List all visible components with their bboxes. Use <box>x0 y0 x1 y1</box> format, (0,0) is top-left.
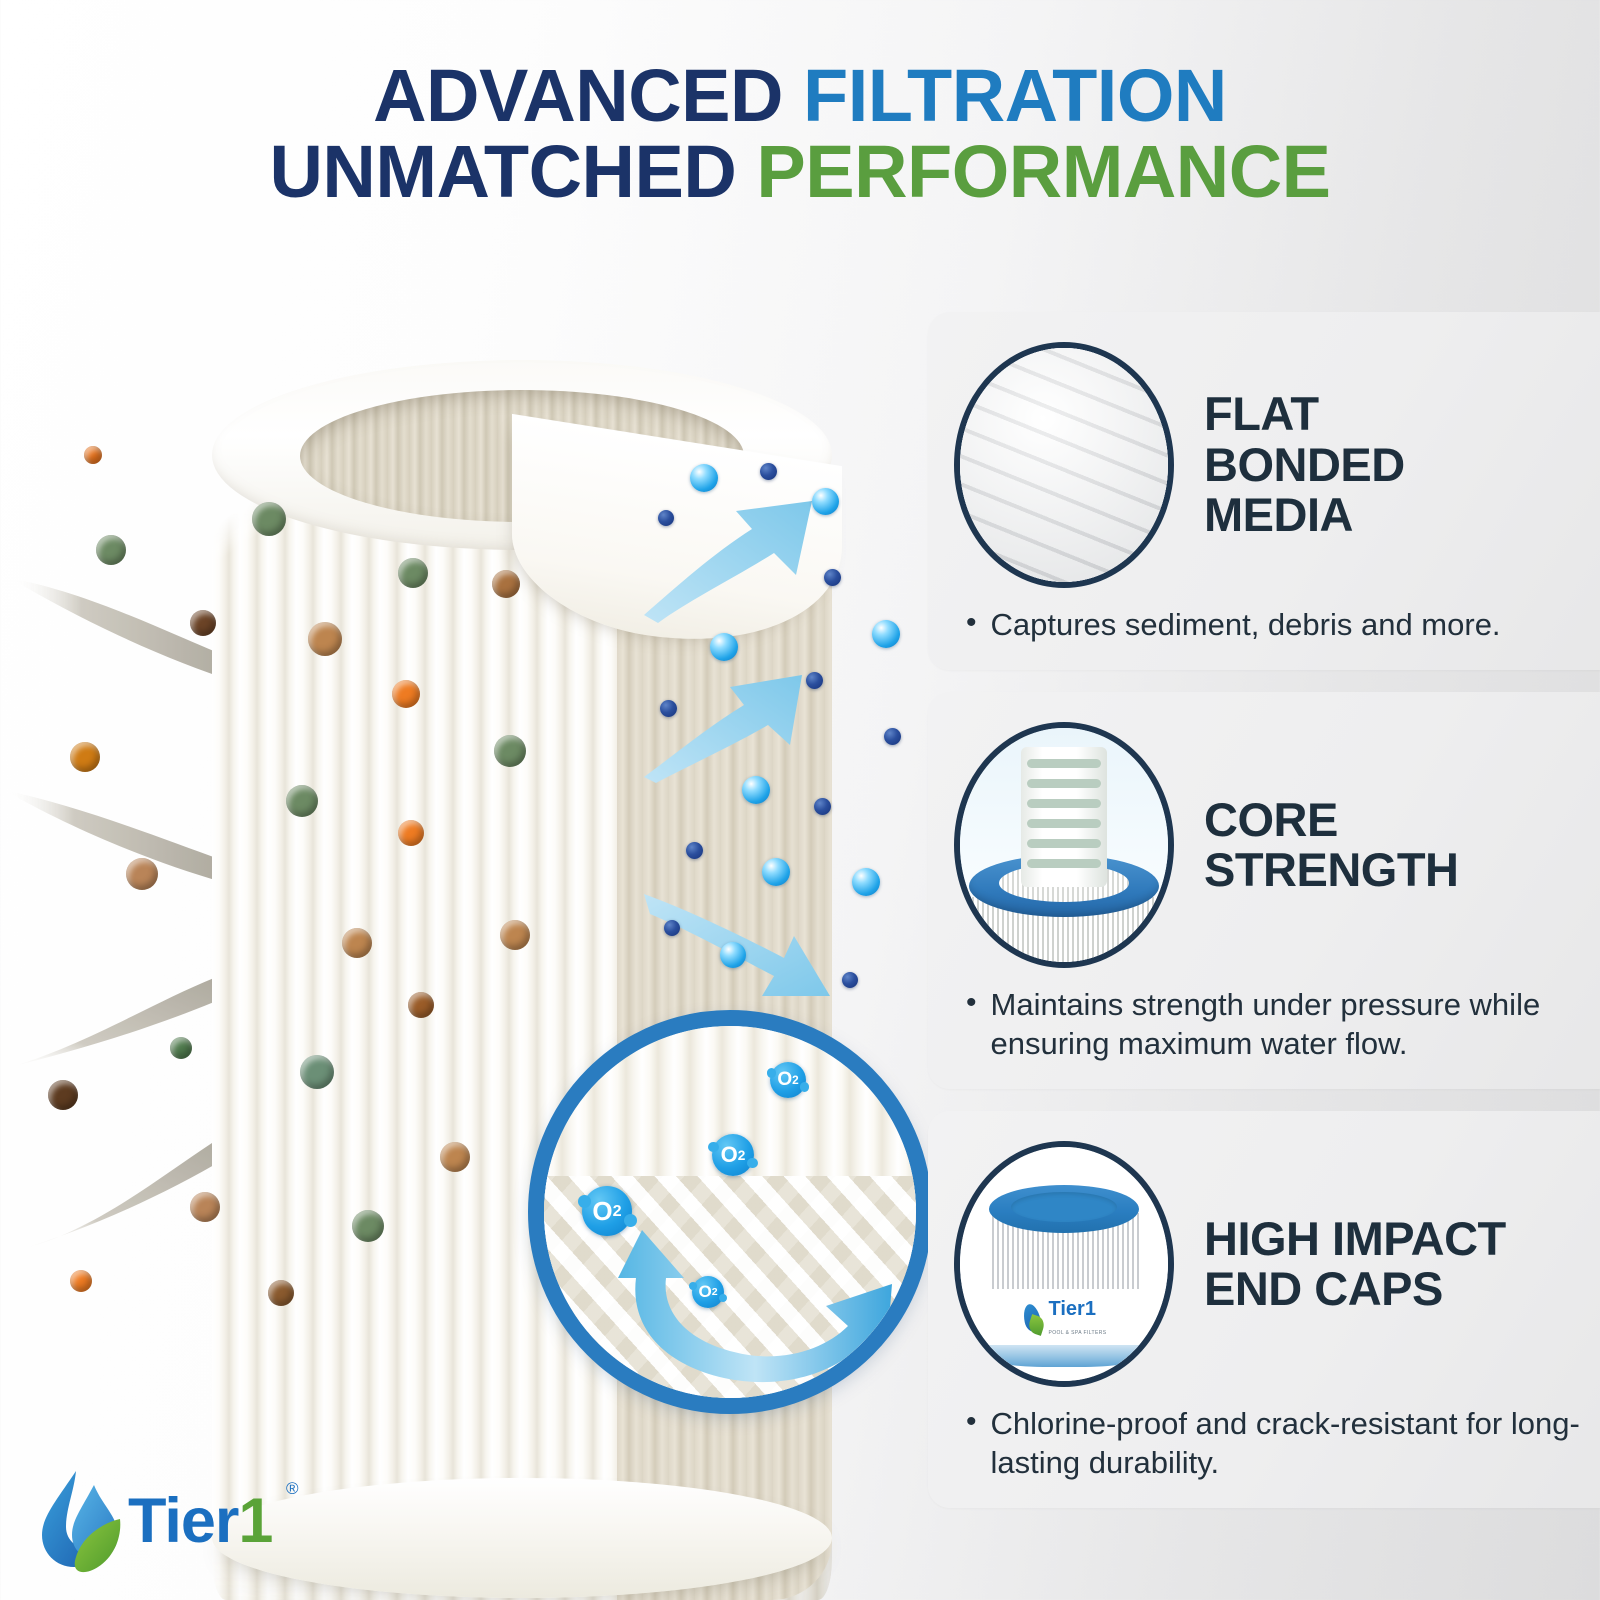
dirt-particle <box>96 535 126 565</box>
feature-cards-list: FLAT BONDED MEDIA • Captures sediment, d… <box>928 312 1600 1530</box>
card-title: CORE STRENGTH <box>1204 795 1459 897</box>
card-title-line: MEDIA <box>1204 490 1405 541</box>
feature-card-core-strength[interactable]: CORE STRENGTH • Maintains strength under… <box>928 692 1600 1089</box>
magnified-media-view: O2 O2 O2 O2 <box>528 1010 932 1414</box>
dirt-particle <box>398 820 424 846</box>
card-bullets: • Maintains strength under pressure whil… <box>954 986 1600 1063</box>
o2-molecule: O2 <box>582 1186 632 1236</box>
dirt-particle <box>494 735 526 767</box>
card-title-line: CORE <box>1204 795 1459 846</box>
clean-water-bubble <box>762 858 790 886</box>
dirt-particle <box>84 446 102 464</box>
registered-trademark-symbol: ® <box>286 1479 299 1499</box>
o2-label: O <box>721 1142 738 1168</box>
dirt-particle <box>70 1270 92 1292</box>
tier1-wordmark: Tier1 <box>128 1485 272 1557</box>
dirt-particle <box>352 1210 384 1242</box>
bullet-item: • Maintains strength under pressure whil… <box>966 986 1600 1063</box>
dirt-particle <box>492 570 520 598</box>
bullet-dot-icon: • <box>966 606 977 641</box>
dirt-particle <box>300 1055 334 1089</box>
bullet-text: Captures sediment, debris and more. <box>991 606 1501 644</box>
o2-molecule: O2 <box>692 1276 724 1308</box>
card-title-line: BONDED <box>1204 440 1405 491</box>
dirt-particle <box>70 742 100 772</box>
clean-water-bubble <box>658 510 674 526</box>
dirt-particle <box>500 920 530 950</box>
cartridge-tagline: POOL & SPA FILTERS <box>1049 1330 1107 1336</box>
clean-water-bubble <box>884 728 901 745</box>
cartridge-brand: Tier1 <box>1049 1298 1096 1320</box>
card-bullets: • Chlorine-proof and crack-resistant for… <box>954 1405 1600 1482</box>
bullet-dot-icon: • <box>966 1405 977 1440</box>
clean-water-arrow-2 <box>640 665 810 785</box>
o2-sub: 2 <box>738 1148 746 1163</box>
dirt-particle <box>126 858 158 890</box>
clean-water-bubble <box>710 633 738 661</box>
card-header: Tier1 POOL & SPA FILTERS HIGH IMPACT END… <box>954 1141 1600 1387</box>
card-title: FLAT BONDED MEDIA <box>1204 389 1405 541</box>
dirt-particle <box>392 680 420 708</box>
bullet-text: Chlorine-proof and crack-resistant for l… <box>991 1405 1600 1482</box>
o2-label: O <box>698 1282 711 1302</box>
card-title-line: STRENGTH <box>1204 845 1459 896</box>
o2-label: O <box>592 1196 612 1227</box>
feature-card-flat-bonded-media[interactable]: FLAT BONDED MEDIA • Captures sediment, d… <box>928 312 1600 670</box>
dirt-particle <box>190 1192 220 1222</box>
cartridge-illustration: Tier1 POOL & SPA FILTERS <box>960 1147 1168 1381</box>
logo-text-green: 1 <box>238 1486 272 1556</box>
dirt-particle <box>398 558 428 588</box>
card-title-line: END CAPS <box>1204 1264 1506 1315</box>
bullet-item: • Captures sediment, debris and more. <box>966 606 1600 644</box>
clean-water-bubble <box>814 798 831 815</box>
cartridge-base <box>988 1345 1140 1367</box>
clean-water-bubble <box>690 464 718 492</box>
o2-sub: 2 <box>613 1202 622 1221</box>
dirt-particle <box>170 1037 192 1059</box>
title-filtration: FILTRATION <box>803 54 1227 137</box>
clean-water-bubble <box>806 672 823 689</box>
card-title-line: HIGH IMPACT <box>1204 1214 1506 1265</box>
core-tube <box>1021 747 1107 887</box>
clean-water-bubble <box>664 920 680 936</box>
cartridge-label: Tier1 POOL & SPA FILTERS <box>988 1289 1140 1349</box>
flat-bonded-media-icon <box>954 342 1174 588</box>
o2-molecule: O2 <box>712 1134 754 1176</box>
dirt-particle <box>268 1280 294 1306</box>
cartridge-end-cap-inner <box>1011 1192 1117 1222</box>
o2-sub: 2 <box>792 1074 799 1087</box>
dirt-particle <box>408 992 434 1018</box>
clean-water-bubble <box>660 700 677 717</box>
card-bullets: • Captures sediment, debris and more. <box>954 606 1600 644</box>
core-illustration <box>960 728 1168 962</box>
clean-water-bubble <box>872 620 900 648</box>
dirt-particle <box>286 785 318 817</box>
bullet-item: • Chlorine-proof and crack-resistant for… <box>966 1405 1600 1482</box>
feature-card-high-impact-end-caps[interactable]: Tier1 POOL & SPA FILTERS HIGH IMPACT END… <box>928 1111 1600 1508</box>
clean-water-bubble <box>824 569 841 586</box>
dirt-particle <box>342 928 372 958</box>
o2-sub: 2 <box>712 1286 718 1298</box>
core-strength-icon <box>954 722 1174 968</box>
title-line-1: ADVANCED FILTRATION <box>0 58 1600 134</box>
page-title: ADVANCED FILTRATION UNMATCHED PERFORMANC… <box>0 58 1600 210</box>
tier1-droplet-icon <box>32 1465 128 1575</box>
clean-water-bubble <box>720 942 746 968</box>
oxygen-flow-arrow <box>600 1222 900 1402</box>
clean-water-bubble <box>742 776 770 804</box>
dirt-particle <box>308 622 342 656</box>
o2-label: O <box>777 1069 792 1091</box>
clean-water-bubble <box>686 842 703 859</box>
clean-water-bubble <box>812 488 839 515</box>
card-title: HIGH IMPACT END CAPS <box>1204 1214 1506 1316</box>
dirt-particle <box>440 1142 470 1172</box>
bullet-text: Maintains strength under pressure while … <box>991 986 1600 1063</box>
title-performance: PERFORMANCE <box>756 130 1330 213</box>
o2-molecule: O2 <box>770 1062 806 1098</box>
title-advanced: ADVANCED <box>373 54 803 137</box>
clean-water-bubble <box>760 463 777 480</box>
tier1-logo: Tier1 ® <box>32 1465 312 1575</box>
card-header: FLAT BONDED MEDIA <box>954 342 1600 588</box>
clean-water-bubble <box>842 972 858 988</box>
clean-water-bubble <box>852 868 880 896</box>
high-impact-end-caps-icon: Tier1 POOL & SPA FILTERS <box>954 1141 1174 1387</box>
dirt-particle <box>190 610 216 636</box>
bullet-dot-icon: • <box>966 986 977 1021</box>
tier1-droplet-icon <box>1022 1304 1044 1334</box>
knit-texture <box>960 348 1168 582</box>
dirt-particle <box>48 1080 78 1110</box>
title-unmatched: UNMATCHED <box>269 130 756 213</box>
card-title-line: FLAT <box>1204 389 1405 440</box>
logo-text-blue: Tier <box>128 1486 238 1556</box>
dirt-particle <box>252 502 286 536</box>
title-line-2: UNMATCHED PERFORMANCE <box>0 134 1600 210</box>
filter-illustration: O2 O2 O2 O2 <box>0 280 960 1600</box>
card-header: CORE STRENGTH <box>954 722 1600 968</box>
